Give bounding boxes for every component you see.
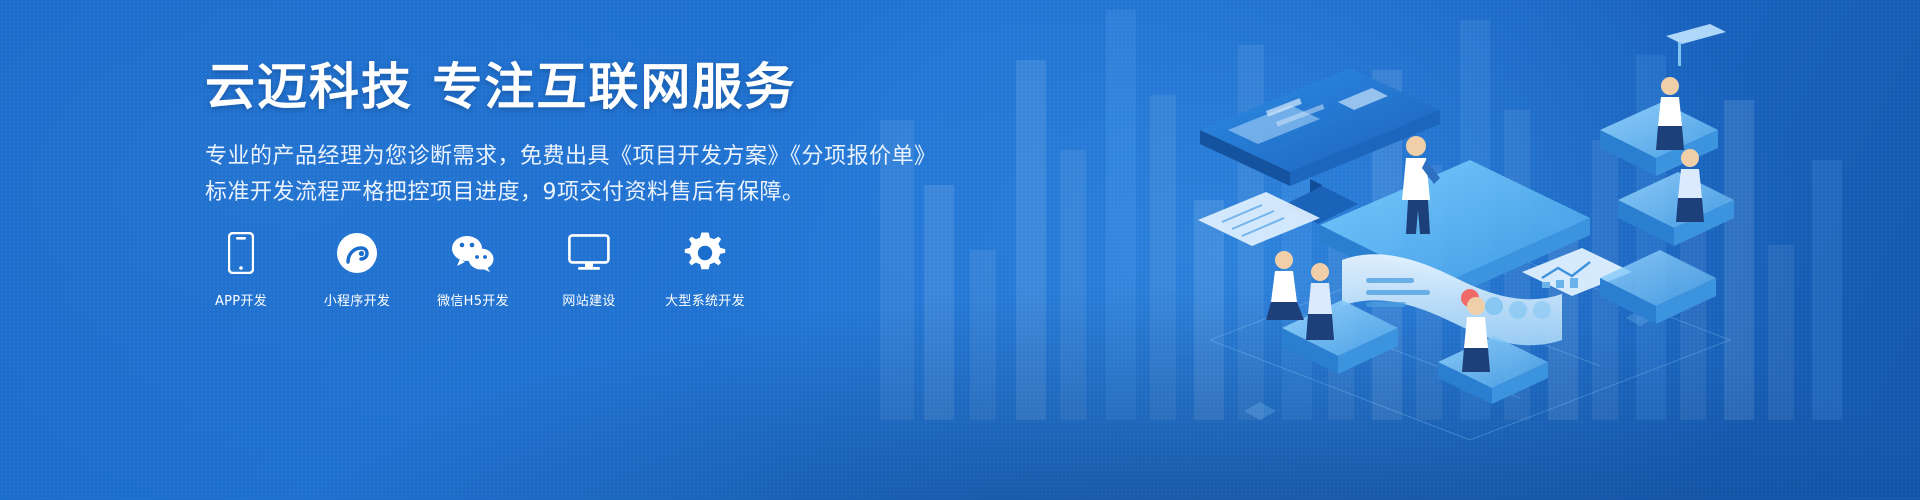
hero-banner: 云迈科技 专注互联网服务 专业的产品经理为您诊断需求，免费出具《项目开发方案》《… — [0, 0, 1920, 500]
service-label: 网站建设 — [562, 290, 615, 309]
service-item-app[interactable]: APP开发 — [205, 230, 277, 309]
banner-content: 云迈科技 专注互联网服务 专业的产品经理为您诊断需求，免费出具《项目开发方案》《… — [205, 60, 905, 210]
service-item-website[interactable]: 网站建设 — [553, 230, 625, 309]
service-label: 微信H5开发 — [437, 290, 509, 309]
isometric-data-platform-illustration — [1170, 10, 1810, 440]
subtitle-line-1: 专业的产品经理为您诊断需求，免费出具《项目开发方案》《分项报价单》 — [205, 139, 905, 175]
gear-icon — [684, 230, 726, 276]
service-item-mini-program[interactable]: 小程序开发 — [321, 230, 393, 309]
subtitle-line-2: 标准开发流程严格把控项目进度，9项交付资料售后有保障。 — [205, 175, 905, 211]
service-list: APP开发 小程序开发 — [205, 230, 741, 309]
service-item-large-system[interactable]: 大型系统开发 — [669, 230, 741, 309]
wechat-icon — [450, 230, 496, 276]
mini-program-icon — [336, 230, 378, 276]
service-label: 大型系统开发 — [665, 290, 745, 309]
banner-subtitle: 专业的产品经理为您诊断需求，免费出具《项目开发方案》《分项报价单》 标准开发流程… — [205, 139, 905, 210]
service-label: APP开发 — [215, 290, 267, 309]
service-label: 小程序开发 — [324, 290, 391, 309]
monitor-icon — [568, 230, 610, 276]
mobile-phone-icon — [228, 230, 254, 276]
service-item-wechat-h5[interactable]: 微信H5开发 — [437, 230, 509, 309]
page-title: 云迈科技 专注互联网服务 — [205, 60, 905, 115]
